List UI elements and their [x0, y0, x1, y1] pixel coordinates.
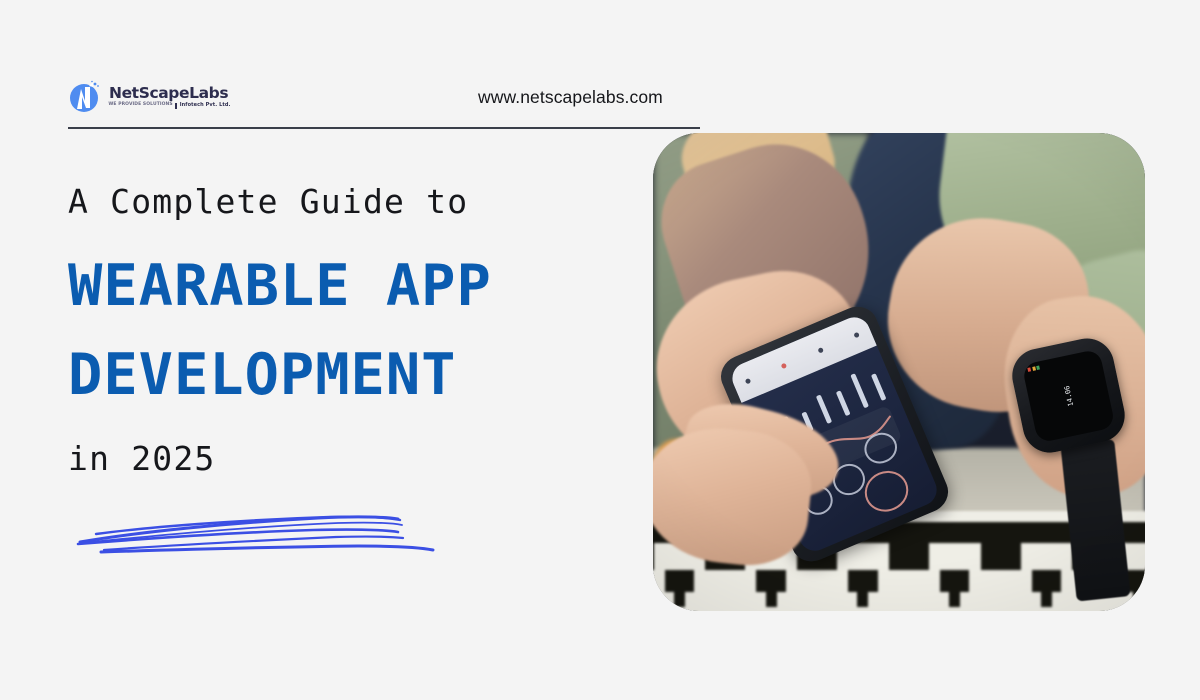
hand-drawn-scribble-underline: [68, 503, 448, 565]
brand-subtitle: WE PROVIDE SOLUTIONS Infotech Pvt. Ltd.: [109, 103, 231, 109]
headline-suffix-year: in 2025: [68, 442, 648, 475]
smartwatch-face: 14.06: [1022, 349, 1115, 444]
photo-smartwatch: 14.06: [1007, 334, 1130, 458]
hero-photo: 14.06: [653, 133, 1145, 611]
headline-title-line-2: DEVELOPMENT: [68, 347, 648, 404]
headline-kicker: A Complete Guide to: [68, 185, 648, 218]
app-progress-ring-4: [858, 464, 914, 518]
brand-text-block: NetScapeLabs WE PROVIDE SOLUTIONS Infote…: [109, 86, 231, 109]
netscapelabs-logo-icon: [68, 80, 102, 114]
app-icon-3: [818, 347, 825, 354]
app-icon-1: [745, 378, 752, 385]
headline-title-line-1: WEARABLE APP: [68, 258, 648, 315]
blog-banner: NetScapeLabs WE PROVIDE SOLUTIONS Infote…: [0, 0, 1200, 700]
brand-tagline: WE PROVIDE SOLUTIONS: [108, 103, 172, 107]
brand-lockup[interactable]: NetScapeLabs WE PROVIDE SOLUTIONS Infote…: [68, 80, 231, 114]
brand-divider: [175, 103, 177, 109]
brand-name: NetScapeLabs: [109, 86, 231, 102]
header-divider-rule: [68, 127, 700, 129]
smartwatch-distance: 14.06: [1063, 385, 1075, 407]
headline-block: A Complete Guide to WEARABLE APP DEVELOP…: [68, 185, 648, 565]
app-icon-2: [781, 363, 788, 370]
app-icon-4: [854, 332, 861, 339]
brand-legal-name: Infotech Pvt. Ltd.: [180, 103, 231, 108]
rug-teeth: [653, 570, 1145, 607]
banner-header: NetScapeLabs WE PROVIDE SOLUTIONS Infote…: [68, 80, 700, 132]
smartwatch-status-icons: [1028, 366, 1041, 372]
website-url[interactable]: www.netscapelabs.com: [478, 87, 663, 108]
